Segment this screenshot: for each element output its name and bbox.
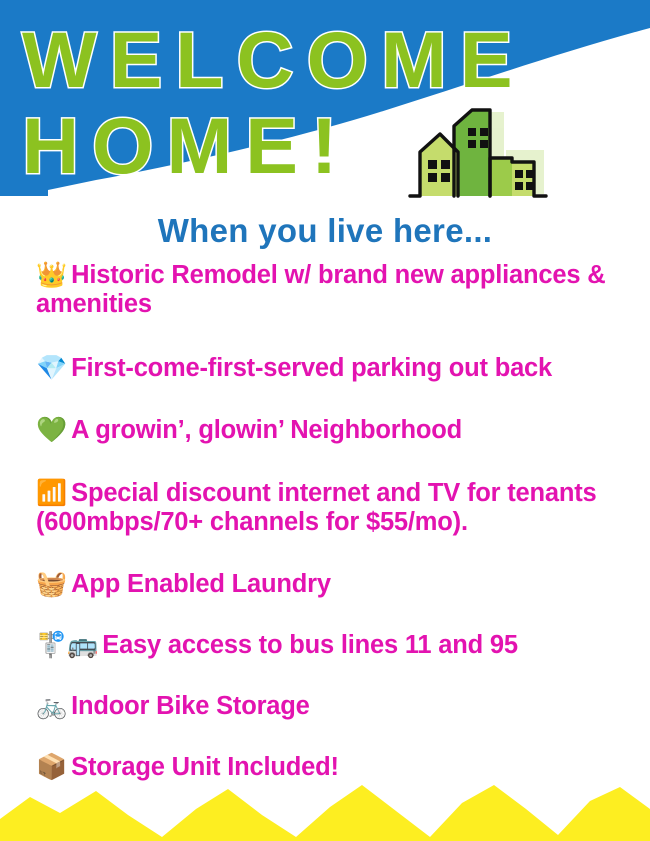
feature-item-historic-remodel: 👑Historic Remodel w/ brand new appliance… [36,260,632,319]
feature-item-label: Easy access to bus lines 11 and 95 [98,631,518,659]
feature-item-bike-storage: 🚲Indoor Bike Storage [36,691,632,721]
feature-list: 👑Historic Remodel w/ brand new appliance… [36,260,632,782]
crown-icon: 👑 [36,260,67,289]
feature-item-storage-unit: 📦Storage Unit Included! [36,752,632,782]
feature-item-internet-tv: 📶Special discount internet and TV for te… [36,478,632,537]
feature-item-label: Indoor Bike Storage [67,692,310,720]
laundry-basket-icon: 🧺 [36,569,67,598]
feature-item-neighborhood: 💚A growin’, glowin’ Neighborhood [36,415,632,445]
feature-item-label: A growin’, glowin’ Neighborhood [67,416,462,444]
yellow-mountain-peaks-decoration [0,779,650,841]
feature-item-laundry: 🧺App Enabled Laundry [36,569,632,599]
feature-item-label: App Enabled Laundry [67,570,331,598]
gem-icon: 💎 [36,353,67,382]
feature-item-label: Special discount internet and TV for ten… [36,479,597,536]
city-buildings-logo-icon [406,104,556,200]
package-box-icon: 📦 [36,752,67,781]
header-banner: WELCOME HOME! [0,0,650,210]
bus-stop-and-bus-icon: 🚏🚌 [36,630,98,659]
feature-item-label: First-come-first-served parking out back [67,354,552,382]
feature-item-label: Storage Unit Included! [67,753,339,781]
feature-item-parking: 💎First-come-first-served parking out bac… [36,353,632,383]
wifi-icon: 📶 [36,478,67,507]
subtitle: When you live here... [0,212,650,250]
feature-item-bus-access: 🚏🚌Easy access to bus lines 11 and 95 [36,630,632,660]
welcome-home-flyer: WELCOME HOME! [0,0,650,841]
green-heart-icon: 💚 [36,415,67,444]
feature-item-label: Historic Remodel w/ brand new appliances… [36,261,605,318]
bicycle-icon: 🚲 [36,691,67,720]
